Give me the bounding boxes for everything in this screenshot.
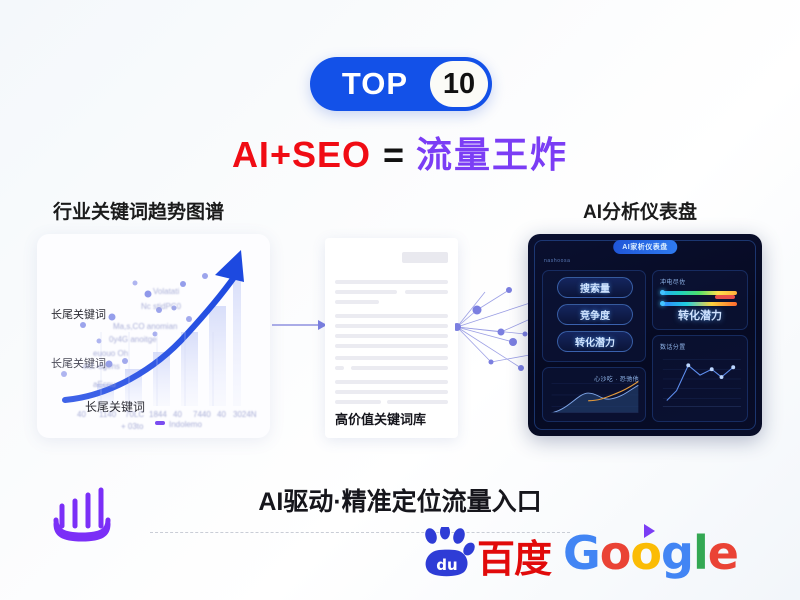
blur-label: eU.-dgens — [83, 362, 120, 371]
flow-arrow-right-icon — [272, 318, 328, 332]
axis-tick: 40 — [217, 410, 226, 419]
blur-label: Ma,s,CO anomian — [113, 322, 177, 331]
title-result: 流量王炸 — [416, 134, 568, 175]
axis-tick: 40 — [173, 410, 182, 419]
blur-label: Volatati — [153, 287, 179, 296]
gauge-marker — [660, 290, 665, 295]
axis-tick: 70LC — [125, 410, 144, 419]
trend-chart-card: 长尾关键词 长尾关键词 长尾关键词 Volatati Nc stidPC0 Ma… — [37, 234, 270, 438]
chart-legend: Indolemo — [169, 420, 202, 429]
doc-card-label: 高价值关键词库 — [335, 409, 426, 428]
google-letter: o — [600, 526, 631, 580]
play-triangle-icon — [644, 524, 655, 538]
keyword-library-document-card: 高价值关键词库 — [325, 238, 458, 438]
dashboard-title-badge: AI家析仪表盘 — [613, 240, 677, 254]
badge-top-label: TOP — [310, 66, 430, 102]
gauge-alert-chip — [715, 295, 735, 299]
gauge-panel-title: 冲电尽佐 — [660, 277, 686, 286]
google-letter: l — [693, 526, 708, 580]
baidu-logo: du 百度 — [418, 527, 551, 579]
baidu-du-text: du — [436, 556, 457, 574]
title-ai-seo: AI+SEO — [232, 134, 371, 175]
baidu-paw-icon: du — [418, 527, 476, 579]
google-letter: G — [563, 526, 600, 580]
search-engine-logos: du 百度 Google — [418, 524, 738, 582]
infographic-canvas: TOP 10 AI+SEO=流量王炸 行业关键词趋势图谱 AI分析仪表盘 — [0, 0, 800, 600]
ai-dashboard-card: AI家析仪表盘 nashoosa 搜索量 竞争度 转化潜力 心沙吃 · 恐驰他 — [528, 234, 762, 436]
axis-tick: 40 — [77, 410, 86, 419]
blur-label: 0y4G anoitge — [109, 335, 157, 344]
metric-pill-conversion[interactable]: 转化潜力 — [557, 331, 633, 352]
line-chart-panel: 数话分置 — [652, 335, 748, 422]
axis-tick: 1140 — [99, 410, 116, 419]
blur-label: aEcnu — [93, 380, 116, 389]
google-letter: e — [708, 526, 738, 580]
blur-label: euouo Oh — [93, 349, 128, 358]
line-chart-svg — [653, 336, 747, 421]
gauge-marker — [660, 301, 665, 306]
axis-note: + 03to — [121, 422, 143, 431]
top-rank-badge: TOP 10 — [310, 57, 492, 111]
metric-pill-competition[interactable]: 竞争度 — [557, 304, 633, 325]
blur-label: Nc stidPC0 — [141, 302, 181, 311]
badge-rank-number: 10 — [430, 61, 488, 107]
google-letter: g — [661, 526, 693, 580]
page-title: AI+SEO=流量王炸 — [0, 126, 800, 178]
axis-tick: 1844 — [149, 410, 167, 419]
baidu-chinese-text: 百度 — [477, 541, 551, 579]
area-chart-panel: 心沙吃 · 恐驰他 — [542, 367, 646, 422]
axis-tick: 7440 — [193, 410, 211, 419]
axis-tick: 3024N — [233, 410, 257, 419]
keyword-tag: 长尾关键词 — [51, 306, 106, 322]
gauge-bar-secondary — [661, 302, 737, 306]
area-chart-svg — [543, 368, 645, 421]
section-label-trend-chart: 行业关键词趋势图谱 — [53, 197, 224, 224]
section-label-dashboard: AI分析仪表盘 — [583, 197, 697, 224]
metric-pill-search-volume[interactable]: 搜索量 — [557, 277, 633, 298]
gauge-panel: 冲电尽佐 转化潜力 — [652, 270, 748, 330]
title-equals: = — [383, 134, 404, 175]
doc-header-chip — [402, 252, 448, 263]
gauge-overlay-label: 转化潜力 — [653, 307, 747, 323]
bar-chart-icon — [48, 482, 122, 544]
metric-pills-panel: 搜索量 竞争度 转化潜力 — [542, 270, 646, 362]
dashboard-subtitle: nashoosa — [544, 258, 571, 264]
